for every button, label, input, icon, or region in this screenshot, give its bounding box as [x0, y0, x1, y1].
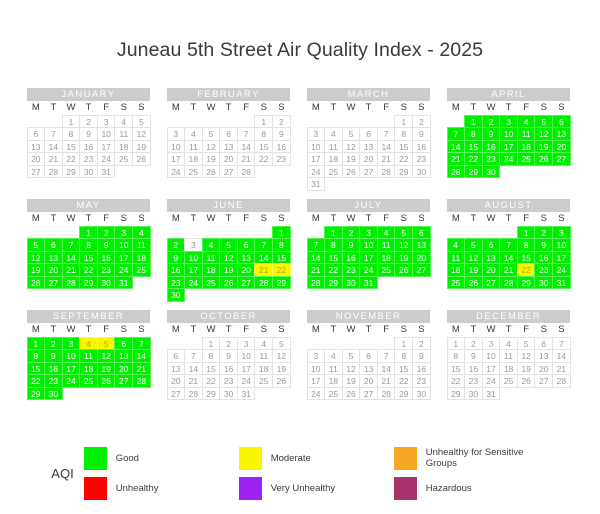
- day-cell[interactable]: 17: [167, 152, 186, 166]
- day-cell[interactable]: 17: [552, 251, 571, 265]
- day-cell[interactable]: 12: [464, 251, 483, 265]
- day-cell[interactable]: 11: [447, 251, 466, 265]
- day-cell[interactable]: 12: [97, 349, 116, 363]
- day-cell[interactable]: 24: [62, 374, 81, 388]
- day-cell[interactable]: 8: [517, 238, 536, 252]
- day-cell[interactable]: 9: [167, 251, 186, 265]
- day-cell[interactable]: 14: [62, 251, 81, 265]
- day-cell[interactable]: 30: [44, 387, 63, 401]
- day-cell[interactable]: 22: [27, 374, 46, 388]
- day-cell[interactable]: 20: [27, 152, 46, 166]
- day-cell[interactable]: 27: [237, 276, 256, 290]
- day-cell[interactable]: 2: [79, 115, 98, 129]
- day-cell[interactable]: 23: [464, 374, 483, 388]
- day-cell[interactable]: 8: [447, 349, 466, 363]
- day-cell[interactable]: 16: [342, 251, 361, 265]
- day-cell[interactable]: 27: [534, 374, 553, 388]
- day-cell[interactable]: 10: [167, 140, 186, 154]
- day-cell[interactable]: 30: [79, 165, 98, 179]
- day-cell[interactable]: 20: [359, 374, 378, 388]
- day-cell[interactable]: 18: [114, 140, 133, 154]
- day-cell[interactable]: 12: [517, 349, 536, 363]
- day-cell[interactable]: 9: [97, 238, 116, 252]
- day-cell[interactable]: 16: [534, 251, 553, 265]
- day-cell[interactable]: 21: [44, 152, 63, 166]
- legend-item-unhealthy-sensitive[interactable]: Unhealthy for Sensitive Groups: [394, 443, 549, 473]
- day-cell[interactable]: 21: [62, 263, 81, 277]
- day-cell[interactable]: 22: [79, 263, 98, 277]
- day-cell[interactable]: 27: [482, 276, 501, 290]
- day-cell[interactable]: 26: [132, 152, 151, 166]
- day-cell[interactable]: 8: [464, 127, 483, 141]
- day-cell[interactable]: 1: [447, 337, 466, 351]
- day-cell[interactable]: 23: [342, 263, 361, 277]
- day-cell[interactable]: 16: [482, 140, 501, 154]
- day-cell[interactable]: 4: [324, 127, 343, 141]
- day-cell[interactable]: 21: [254, 263, 273, 277]
- day-cell[interactable]: 17: [97, 140, 116, 154]
- day-cell[interactable]: 11: [377, 238, 396, 252]
- day-cell[interactable]: 28: [62, 276, 81, 290]
- day-cell[interactable]: 29: [62, 165, 81, 179]
- day-cell[interactable]: 10: [499, 127, 518, 141]
- day-cell[interactable]: 18: [377, 251, 396, 265]
- day-cell[interactable]: 15: [324, 251, 343, 265]
- day-cell[interactable]: 19: [342, 152, 361, 166]
- day-cell[interactable]: 14: [377, 362, 396, 376]
- day-cell[interactable]: 23: [412, 374, 431, 388]
- day-cell[interactable]: 14: [447, 140, 466, 154]
- day-cell[interactable]: 3: [482, 337, 501, 351]
- day-cell[interactable]: 8: [272, 238, 291, 252]
- day-cell[interactable]: 30: [219, 387, 238, 401]
- day-cell[interactable]: 11: [184, 140, 203, 154]
- day-cell[interactable]: 30: [342, 276, 361, 290]
- day-cell[interactable]: 3: [167, 127, 186, 141]
- day-cell[interactable]: 5: [517, 337, 536, 351]
- day-cell[interactable]: 10: [307, 140, 326, 154]
- day-cell[interactable]: 24: [307, 387, 326, 401]
- day-cell[interactable]: 15: [272, 251, 291, 265]
- day-cell[interactable]: 19: [534, 140, 553, 154]
- day-cell[interactable]: 10: [184, 251, 203, 265]
- day-cell[interactable]: 4: [114, 115, 133, 129]
- day-cell[interactable]: 26: [272, 374, 291, 388]
- day-cell[interactable]: 27: [412, 263, 431, 277]
- day-cell[interactable]: 24: [552, 263, 571, 277]
- day-cell[interactable]: 23: [97, 263, 116, 277]
- day-cell[interactable]: 21: [132, 362, 151, 376]
- day-cell[interactable]: 12: [219, 251, 238, 265]
- day-cell[interactable]: 4: [377, 226, 396, 240]
- day-cell[interactable]: 6: [44, 238, 63, 252]
- day-cell[interactable]: 17: [62, 362, 81, 376]
- day-cell[interactable]: 22: [62, 152, 81, 166]
- day-cell[interactable]: 19: [342, 374, 361, 388]
- day-cell[interactable]: 31: [97, 165, 116, 179]
- day-cell[interactable]: 14: [307, 251, 326, 265]
- day-cell[interactable]: 25: [447, 276, 466, 290]
- day-cell[interactable]: 26: [219, 276, 238, 290]
- day-cell[interactable]: 6: [482, 238, 501, 252]
- day-cell[interactable]: 28: [377, 165, 396, 179]
- day-cell[interactable]: 25: [324, 387, 343, 401]
- day-cell[interactable]: 13: [359, 362, 378, 376]
- day-cell[interactable]: 1: [62, 115, 81, 129]
- day-cell[interactable]: 29: [394, 387, 413, 401]
- day-cell[interactable]: 18: [79, 362, 98, 376]
- day-cell[interactable]: 31: [482, 387, 501, 401]
- day-cell[interactable]: 5: [219, 238, 238, 252]
- day-cell[interactable]: 20: [167, 374, 186, 388]
- day-cell[interactable]: 1: [79, 226, 98, 240]
- day-cell[interactable]: 18: [324, 152, 343, 166]
- day-cell[interactable]: 12: [132, 127, 151, 141]
- day-cell[interactable]: 15: [202, 362, 221, 376]
- day-cell[interactable]: 10: [307, 362, 326, 376]
- day-cell[interactable]: 28: [552, 374, 571, 388]
- day-cell[interactable]: 7: [237, 127, 256, 141]
- day-cell[interactable]: 24: [97, 152, 116, 166]
- day-cell[interactable]: 22: [464, 152, 483, 166]
- day-cell[interactable]: 7: [499, 238, 518, 252]
- day-cell[interactable]: 28: [254, 276, 273, 290]
- day-cell[interactable]: 19: [394, 251, 413, 265]
- day-cell[interactable]: 5: [202, 127, 221, 141]
- day-cell[interactable]: 23: [79, 152, 98, 166]
- day-cell[interactable]: 8: [202, 349, 221, 363]
- day-cell[interactable]: 27: [359, 165, 378, 179]
- day-cell[interactable]: 15: [27, 362, 46, 376]
- day-cell[interactable]: 4: [254, 337, 273, 351]
- day-cell[interactable]: 5: [394, 226, 413, 240]
- day-cell[interactable]: 6: [237, 238, 256, 252]
- day-cell[interactable]: 10: [359, 238, 378, 252]
- day-cell[interactable]: 29: [517, 276, 536, 290]
- day-cell[interactable]: 15: [447, 362, 466, 376]
- day-cell[interactable]: 4: [132, 226, 151, 240]
- day-cell[interactable]: 24: [499, 152, 518, 166]
- day-cell[interactable]: 12: [394, 238, 413, 252]
- day-cell[interactable]: 15: [254, 140, 273, 154]
- day-cell[interactable]: 7: [447, 127, 466, 141]
- day-cell[interactable]: 21: [552, 362, 571, 376]
- day-cell[interactable]: 10: [552, 238, 571, 252]
- day-cell[interactable]: 26: [27, 276, 46, 290]
- day-cell[interactable]: 23: [44, 374, 63, 388]
- day-cell[interactable]: 29: [27, 387, 46, 401]
- day-cell[interactable]: 22: [272, 263, 291, 277]
- day-cell[interactable]: 2: [44, 337, 63, 351]
- day-cell[interactable]: 24: [184, 276, 203, 290]
- day-cell[interactable]: 5: [97, 337, 116, 351]
- day-cell[interactable]: 30: [167, 288, 186, 302]
- day-cell[interactable]: 19: [132, 140, 151, 154]
- day-cell[interactable]: 11: [202, 251, 221, 265]
- day-cell[interactable]: 17: [307, 152, 326, 166]
- day-cell[interactable]: 2: [482, 115, 501, 129]
- day-cell[interactable]: 7: [307, 238, 326, 252]
- day-cell[interactable]: 15: [517, 251, 536, 265]
- day-cell[interactable]: 4: [447, 238, 466, 252]
- day-cell[interactable]: 26: [342, 387, 361, 401]
- day-cell[interactable]: 29: [464, 165, 483, 179]
- day-cell[interactable]: 16: [44, 362, 63, 376]
- day-cell[interactable]: 26: [202, 165, 221, 179]
- day-cell[interactable]: 19: [202, 152, 221, 166]
- day-cell[interactable]: 23: [412, 152, 431, 166]
- day-cell[interactable]: 7: [184, 349, 203, 363]
- day-cell[interactable]: 21: [184, 374, 203, 388]
- day-cell[interactable]: 21: [377, 374, 396, 388]
- day-cell[interactable]: 12: [342, 140, 361, 154]
- day-cell[interactable]: 25: [254, 374, 273, 388]
- day-cell[interactable]: 17: [499, 140, 518, 154]
- day-cell[interactable]: 4: [324, 349, 343, 363]
- day-cell[interactable]: 22: [517, 263, 536, 277]
- day-cell[interactable]: 16: [272, 140, 291, 154]
- day-cell[interactable]: 28: [184, 387, 203, 401]
- day-cell[interactable]: 17: [184, 263, 203, 277]
- day-cell[interactable]: 28: [44, 165, 63, 179]
- day-cell[interactable]: 2: [97, 226, 116, 240]
- day-cell[interactable]: 6: [27, 127, 46, 141]
- day-cell[interactable]: 5: [27, 238, 46, 252]
- day-cell[interactable]: 24: [237, 374, 256, 388]
- day-cell[interactable]: 19: [97, 362, 116, 376]
- legend-item-unhealthy[interactable]: Unhealthy: [84, 473, 239, 503]
- day-cell[interactable]: 6: [219, 127, 238, 141]
- day-cell[interactable]: 12: [272, 349, 291, 363]
- day-cell[interactable]: 25: [517, 152, 536, 166]
- day-cell[interactable]: 4: [499, 337, 518, 351]
- day-cell[interactable]: 20: [219, 152, 238, 166]
- day-cell[interactable]: 6: [534, 337, 553, 351]
- day-cell[interactable]: 18: [517, 140, 536, 154]
- day-cell[interactable]: 29: [272, 276, 291, 290]
- day-cell[interactable]: 21: [307, 263, 326, 277]
- day-cell[interactable]: 30: [97, 276, 116, 290]
- day-cell[interactable]: 13: [219, 140, 238, 154]
- day-cell[interactable]: 21: [447, 152, 466, 166]
- day-cell[interactable]: 5: [342, 349, 361, 363]
- day-cell[interactable]: 1: [394, 337, 413, 351]
- day-cell[interactable]: 18: [202, 263, 221, 277]
- day-cell[interactable]: 3: [307, 127, 326, 141]
- day-cell[interactable]: 3: [97, 115, 116, 129]
- day-cell[interactable]: 10: [97, 127, 116, 141]
- day-cell[interactable]: 18: [184, 152, 203, 166]
- day-cell[interactable]: 2: [272, 115, 291, 129]
- day-cell[interactable]: 19: [219, 263, 238, 277]
- day-cell[interactable]: 19: [517, 362, 536, 376]
- day-cell[interactable]: 30: [412, 387, 431, 401]
- day-cell[interactable]: 7: [44, 127, 63, 141]
- day-cell[interactable]: 5: [534, 115, 553, 129]
- day-cell[interactable]: 29: [79, 276, 98, 290]
- day-cell[interactable]: 28: [499, 276, 518, 290]
- day-cell[interactable]: 8: [27, 349, 46, 363]
- day-cell[interactable]: 20: [237, 263, 256, 277]
- day-cell[interactable]: 25: [324, 165, 343, 179]
- day-cell[interactable]: 12: [342, 362, 361, 376]
- day-cell[interactable]: 18: [447, 263, 466, 277]
- day-cell[interactable]: 2: [534, 226, 553, 240]
- day-cell[interactable]: 6: [114, 337, 133, 351]
- day-cell[interactable]: 3: [552, 226, 571, 240]
- day-cell[interactable]: 28: [377, 387, 396, 401]
- day-cell[interactable]: 19: [464, 263, 483, 277]
- day-cell[interactable]: 8: [79, 238, 98, 252]
- day-cell[interactable]: 2: [464, 337, 483, 351]
- day-cell[interactable]: 4: [79, 337, 98, 351]
- day-cell[interactable]: 3: [359, 226, 378, 240]
- day-cell[interactable]: 30: [482, 165, 501, 179]
- day-cell[interactable]: 11: [499, 349, 518, 363]
- day-cell[interactable]: 20: [552, 140, 571, 154]
- day-cell[interactable]: 16: [167, 263, 186, 277]
- day-cell[interactable]: 17: [359, 251, 378, 265]
- day-cell[interactable]: 16: [412, 140, 431, 154]
- day-cell[interactable]: 16: [79, 140, 98, 154]
- day-cell[interactable]: 1: [254, 115, 273, 129]
- day-cell[interactable]: 9: [534, 238, 553, 252]
- day-cell[interactable]: 20: [412, 251, 431, 265]
- day-cell[interactable]: 5: [272, 337, 291, 351]
- day-cell[interactable]: 25: [377, 263, 396, 277]
- day-cell[interactable]: 2: [219, 337, 238, 351]
- day-cell[interactable]: 14: [237, 140, 256, 154]
- day-cell[interactable]: 30: [464, 387, 483, 401]
- day-cell[interactable]: 8: [394, 127, 413, 141]
- day-cell[interactable]: 9: [464, 349, 483, 363]
- day-cell[interactable]: 9: [412, 349, 431, 363]
- day-cell[interactable]: 27: [552, 152, 571, 166]
- day-cell[interactable]: 17: [114, 251, 133, 265]
- day-cell[interactable]: 6: [359, 349, 378, 363]
- day-cell[interactable]: 10: [114, 238, 133, 252]
- day-cell[interactable]: 20: [534, 362, 553, 376]
- day-cell[interactable]: 15: [62, 140, 81, 154]
- day-cell[interactable]: 21: [499, 263, 518, 277]
- day-cell[interactable]: 25: [132, 263, 151, 277]
- day-cell[interactable]: 31: [237, 387, 256, 401]
- day-cell[interactable]: 1: [394, 115, 413, 129]
- day-cell[interactable]: 27: [167, 387, 186, 401]
- day-cell[interactable]: 3: [114, 226, 133, 240]
- day-cell[interactable]: 25: [114, 152, 133, 166]
- day-cell[interactable]: 12: [27, 251, 46, 265]
- day-cell[interactable]: 15: [79, 251, 98, 265]
- day-cell[interactable]: 5: [342, 127, 361, 141]
- day-cell[interactable]: 15: [394, 362, 413, 376]
- day-cell[interactable]: 24: [482, 374, 501, 388]
- day-cell[interactable]: 7: [62, 238, 81, 252]
- day-cell[interactable]: 2: [412, 115, 431, 129]
- day-cell[interactable]: 29: [394, 165, 413, 179]
- day-cell[interactable]: 13: [534, 349, 553, 363]
- day-cell[interactable]: 26: [342, 165, 361, 179]
- day-cell[interactable]: 20: [114, 362, 133, 376]
- day-cell[interactable]: 29: [447, 387, 466, 401]
- day-cell[interactable]: 1: [272, 226, 291, 240]
- day-cell[interactable]: 23: [219, 374, 238, 388]
- day-cell[interactable]: 31: [114, 276, 133, 290]
- day-cell[interactable]: 9: [482, 127, 501, 141]
- day-cell[interactable]: 7: [377, 127, 396, 141]
- day-cell[interactable]: 14: [377, 140, 396, 154]
- day-cell[interactable]: 13: [237, 251, 256, 265]
- day-cell[interactable]: 29: [202, 387, 221, 401]
- day-cell[interactable]: 28: [307, 276, 326, 290]
- day-cell[interactable]: 6: [167, 349, 186, 363]
- day-cell[interactable]: 6: [552, 115, 571, 129]
- day-cell[interactable]: 4: [517, 115, 536, 129]
- day-cell[interactable]: 31: [552, 276, 571, 290]
- day-cell[interactable]: 14: [552, 349, 571, 363]
- day-cell[interactable]: 25: [184, 165, 203, 179]
- day-cell[interactable]: 31: [359, 276, 378, 290]
- day-cell[interactable]: 23: [272, 152, 291, 166]
- day-cell[interactable]: 21: [237, 152, 256, 166]
- day-cell[interactable]: 11: [114, 127, 133, 141]
- legend-item-moderate[interactable]: Moderate: [239, 443, 394, 473]
- day-cell[interactable]: 24: [307, 165, 326, 179]
- day-cell[interactable]: 1: [324, 226, 343, 240]
- day-cell[interactable]: 7: [132, 337, 151, 351]
- day-cell[interactable]: 13: [552, 127, 571, 141]
- day-cell[interactable]: 7: [552, 337, 571, 351]
- day-cell[interactable]: 25: [499, 374, 518, 388]
- day-cell[interactable]: 11: [324, 362, 343, 376]
- day-cell[interactable]: 22: [447, 374, 466, 388]
- day-cell[interactable]: 12: [202, 140, 221, 154]
- day-cell[interactable]: 23: [482, 152, 501, 166]
- day-cell[interactable]: 20: [44, 263, 63, 277]
- day-cell[interactable]: 10: [482, 349, 501, 363]
- day-cell[interactable]: 28: [237, 165, 256, 179]
- day-cell[interactable]: 14: [184, 362, 203, 376]
- day-cell[interactable]: 1: [202, 337, 221, 351]
- day-cell[interactable]: 9: [342, 238, 361, 252]
- day-cell[interactable]: 8: [62, 127, 81, 141]
- day-cell[interactable]: 18: [499, 362, 518, 376]
- day-cell[interactable]: 13: [167, 362, 186, 376]
- day-cell[interactable]: 15: [394, 140, 413, 154]
- day-cell[interactable]: 11: [324, 140, 343, 154]
- day-cell[interactable]: 3: [184, 238, 203, 252]
- day-cell[interactable]: 19: [27, 263, 46, 277]
- legend-item-very-unhealthy[interactable]: Very Unhealthy: [239, 473, 394, 503]
- day-cell[interactable]: 27: [114, 374, 133, 388]
- day-cell[interactable]: 18: [132, 251, 151, 265]
- day-cell[interactable]: 16: [464, 362, 483, 376]
- day-cell[interactable]: 20: [482, 263, 501, 277]
- day-cell[interactable]: 25: [79, 374, 98, 388]
- day-cell[interactable]: 6: [412, 226, 431, 240]
- day-cell[interactable]: 13: [412, 238, 431, 252]
- day-cell[interactable]: 24: [359, 263, 378, 277]
- day-cell[interactable]: 7: [377, 349, 396, 363]
- day-cell[interactable]: 4: [184, 127, 203, 141]
- day-cell[interactable]: 5: [132, 115, 151, 129]
- day-cell[interactable]: 5: [464, 238, 483, 252]
- day-cell[interactable]: 15: [464, 140, 483, 154]
- day-cell[interactable]: 7: [254, 238, 273, 252]
- day-cell[interactable]: 1: [27, 337, 46, 351]
- day-cell[interactable]: 27: [44, 276, 63, 290]
- day-cell[interactable]: 13: [359, 140, 378, 154]
